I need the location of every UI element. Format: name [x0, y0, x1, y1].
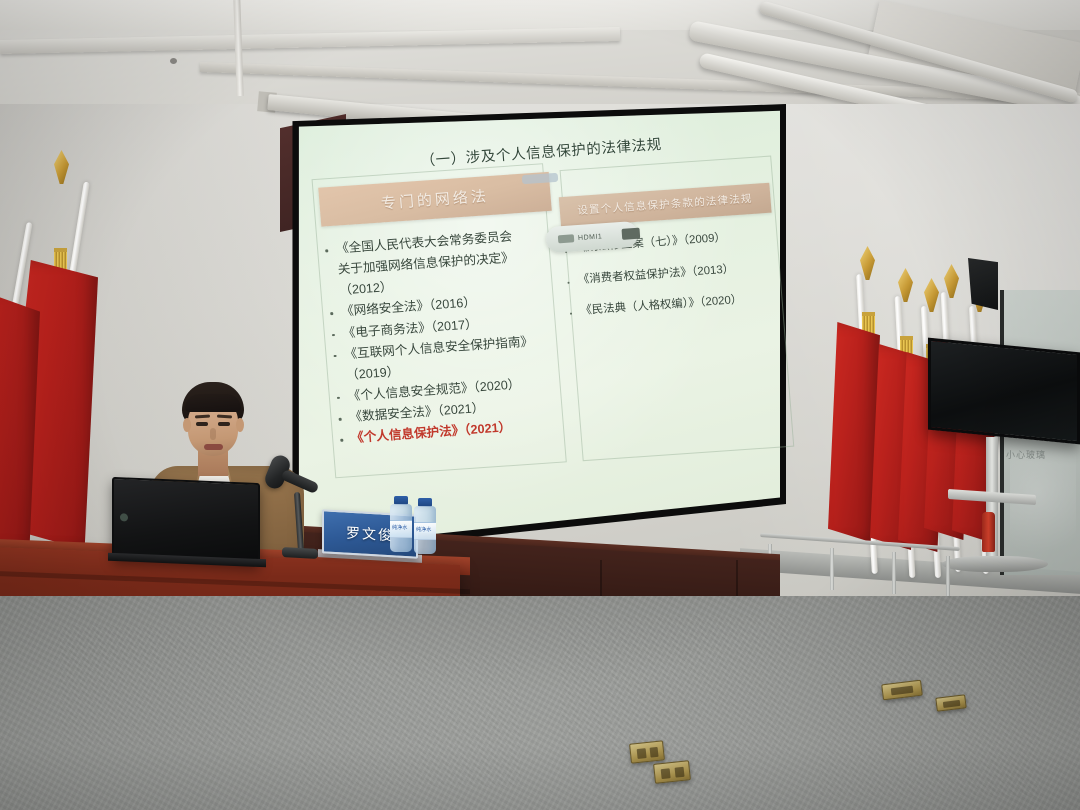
bottle-label-text: 纯净水 — [392, 524, 408, 531]
hdmi-toast-label: HDMI1 — [578, 233, 603, 242]
presenter-ear — [183, 418, 191, 432]
water-bottle: 纯净水 — [414, 498, 436, 554]
presenter-eye — [196, 422, 208, 426]
floor-outlet-cover — [653, 760, 691, 784]
lecture-hall-photo: （一）涉及个人信息保护的法律法规 专门的网络法 《全国人民代表大会常务委员会 关… — [0, 0, 1080, 810]
hdmi-chip-icon — [558, 234, 575, 243]
outlet-slot — [650, 747, 659, 758]
spear-finial-icon — [860, 246, 875, 280]
bottle-label-text: 纯净水 — [416, 526, 432, 533]
laptop[interactable] — [112, 477, 260, 565]
nameplate-text: 罗文俊 — [346, 523, 394, 546]
rail-post — [830, 548, 834, 590]
presentation-slide: （一）涉及个人信息保护的法律法规 专门的网络法 《全国人民代表大会常务委员会 关… — [298, 77, 814, 547]
list-item: 《消费者权益保护法》（2013） — [564, 258, 776, 290]
wall-mounted-tv[interactable] — [928, 338, 1080, 445]
tv-stand-base — [942, 556, 1048, 572]
projection-screen: （一）涉及个人信息保护的法律法规 专门的网络法 《全国人民代表大会常务委员会 关… — [232, 96, 772, 566]
list-item: 《民法典（人格权编）》（2020） — [567, 289, 779, 321]
presenter-mouth — [204, 444, 223, 450]
fire-extinguisher-icon — [982, 512, 995, 552]
carpet-tile — [300, 656, 520, 786]
carpet-tile — [820, 646, 1040, 796]
outlet-slot — [943, 700, 961, 708]
rail-post — [892, 552, 896, 594]
rail-post — [946, 556, 950, 598]
ceiling-speaker-icon — [968, 258, 998, 310]
ceiling-fixture-icon — [170, 58, 177, 64]
laptop-logo-icon — [120, 513, 128, 521]
outlet-slot — [661, 768, 671, 779]
hdmi-connector-icon — [622, 228, 641, 240]
slide-left-bullet-list: 《全国人民代表大会常务委员会 关于加强网络信息保护的决定》 （2012） 《网络… — [322, 225, 569, 450]
presenter-ear — [236, 418, 244, 432]
outlet-slot — [637, 748, 647, 759]
floor-outlet-cover — [629, 740, 665, 763]
presenter-nose — [210, 428, 216, 440]
slide-right-header: 设置个人信息保护条款的法律法规 — [558, 183, 771, 228]
water-bottle: 纯净水 — [390, 496, 412, 552]
presenter-hair-front — [185, 394, 241, 412]
presenter-eye — [218, 422, 230, 426]
carpet-tile — [60, 626, 260, 746]
outlet-slot — [891, 686, 914, 696]
slide-column-left: 专门的网络法 《全国人民代表大会常务委员会 关于加强网络信息保护的决定》 （20… — [318, 172, 569, 451]
carpeted-floor — [0, 596, 1080, 810]
outlet-slot — [675, 767, 685, 778]
carpet-tile — [560, 616, 790, 756]
ceiling-beam — [0, 27, 620, 54]
spear-finial-icon — [54, 150, 69, 184]
microphone-base — [282, 547, 318, 559]
glass-partition-sign: 小心玻璃 — [1006, 448, 1046, 461]
